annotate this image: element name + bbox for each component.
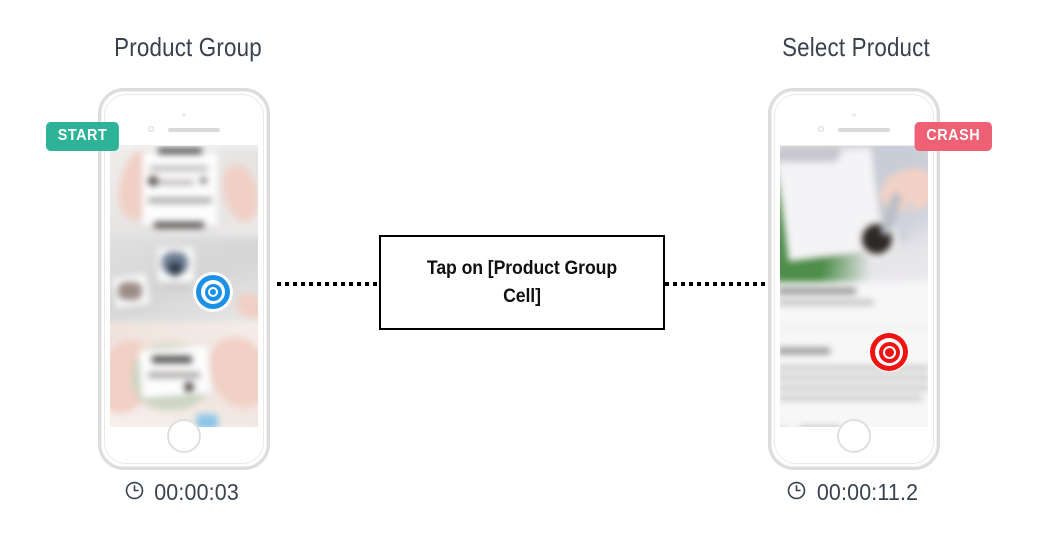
connector-line-right bbox=[665, 282, 769, 286]
timestamp-value: 00:00:03 bbox=[155, 479, 240, 506]
connector-line-left bbox=[277, 282, 379, 286]
list-item[interactable] bbox=[110, 322, 258, 427]
status-badge-start: START bbox=[46, 122, 119, 151]
action-label: Tap on [Product Group Cell] bbox=[408, 255, 637, 310]
step-title-product-group: Product Group bbox=[50, 32, 325, 63]
device-frame-left bbox=[98, 88, 270, 470]
app-screenshot-select-product[interactable] bbox=[780, 145, 928, 427]
front-camera-icon bbox=[818, 126, 824, 132]
proximity-sensor-icon bbox=[852, 113, 856, 117]
list-item[interactable] bbox=[110, 236, 258, 322]
blurred-screenshot-content-right bbox=[780, 145, 928, 427]
product-hero-image bbox=[780, 145, 928, 282]
action-description-box: Tap on [Product Group Cell] bbox=[379, 235, 665, 330]
proximity-sensor-icon bbox=[182, 113, 186, 117]
front-camera-icon bbox=[148, 126, 154, 132]
device-inner-right bbox=[774, 94, 934, 464]
status-badge-crash: CRASH bbox=[915, 122, 992, 151]
list-item[interactable] bbox=[110, 146, 258, 236]
timestamp-right: 00:00:11.2 bbox=[695, 478, 1015, 506]
timestamp-value: 00:00:11.2 bbox=[817, 479, 918, 506]
clock-icon bbox=[787, 479, 806, 506]
tap-target-red-icon bbox=[869, 332, 909, 372]
earpiece-speaker-icon bbox=[838, 128, 890, 132]
home-button[interactable] bbox=[167, 419, 201, 453]
flow-diagram-canvas: Product Group bbox=[0, 0, 1038, 550]
app-screenshot-product-group[interactable] bbox=[110, 145, 258, 427]
device-inner-left bbox=[104, 94, 264, 464]
clock-icon bbox=[125, 479, 144, 506]
earpiece-speaker-icon bbox=[168, 128, 220, 132]
tap-target-blue-icon bbox=[193, 272, 233, 312]
step-title-select-product: Select Product bbox=[718, 32, 993, 63]
home-button[interactable] bbox=[837, 419, 871, 453]
timestamp-left: 00:00:03 bbox=[24, 478, 344, 506]
blurred-screenshot-content-left bbox=[110, 145, 258, 427]
